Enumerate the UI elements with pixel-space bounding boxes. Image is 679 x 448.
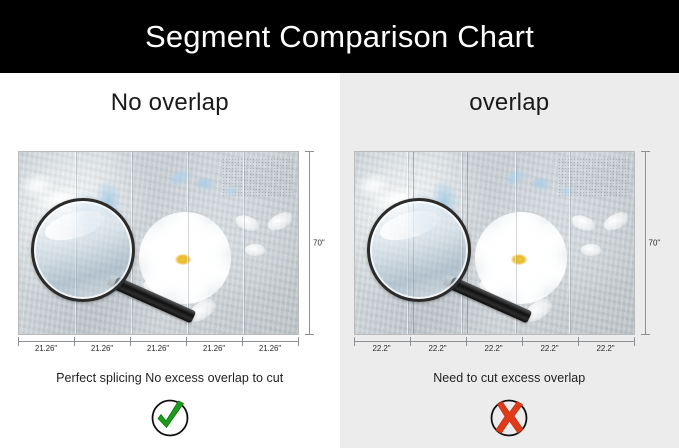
petal — [569, 211, 597, 234]
panel-heading-no-overlap: No overlap — [0, 89, 340, 117]
petal — [265, 210, 295, 234]
dimension-tick — [641, 334, 650, 335]
petal — [244, 243, 265, 258]
segment-width-label: 21.26" — [18, 344, 74, 353]
mural-artwork — [354, 151, 635, 335]
petal — [580, 243, 601, 258]
magnifier-ferrule — [107, 274, 128, 291]
width-dimension-line-overlap: 22.2" 22.2" 22.2" 22.2" 22.2" — [354, 341, 635, 363]
segment-width-label: 22.2" — [522, 344, 578, 353]
petal — [167, 166, 197, 189]
flower-stamen — [175, 254, 191, 265]
petal — [601, 210, 631, 234]
panel-no-overlap: No overlap — [0, 73, 340, 448]
comparison-panels: No overlap — [0, 73, 679, 448]
petal — [233, 211, 261, 234]
verdict-overlap — [340, 395, 679, 441]
segment-width-label: 22.2" — [578, 344, 634, 353]
segment-width-label: 22.2" — [410, 344, 466, 353]
blue-flower-cluster — [354, 156, 482, 272]
dimension-tick — [305, 334, 314, 335]
dimension-tick — [298, 337, 299, 346]
caption-no-overlap: Perfect splicing No excess overlap to cu… — [0, 371, 340, 385]
dimension-tick — [634, 337, 635, 346]
dimension-rule — [354, 341, 635, 342]
title-banner: Segment Comparison Chart — [0, 0, 679, 73]
page-title: Segment Comparison Chart — [145, 19, 534, 55]
segment-width-label: 21.26" — [186, 344, 242, 353]
segment-width-label: 21.26" — [242, 344, 298, 353]
panel-heading-overlap: overlap — [340, 89, 679, 117]
height-label: 70" — [313, 239, 325, 248]
magnifier-ferrule — [442, 274, 463, 291]
height-dimension-line-no-overlap: 70" — [305, 151, 331, 335]
dimension-rule — [309, 151, 310, 335]
dimension-rule — [645, 151, 646, 335]
segment-width-label: 21.26" — [130, 344, 186, 353]
check-mark-icon — [147, 395, 193, 441]
segment-width-label: 22.2" — [354, 344, 410, 353]
cross-mark-icon — [486, 395, 532, 441]
petal — [194, 176, 219, 195]
segment-width-label: 22.2" — [466, 344, 522, 353]
segment-comparison-infographic: Segment Comparison Chart No overlap — [0, 0, 679, 448]
verdict-no-overlap — [0, 395, 340, 441]
petal — [503, 166, 533, 189]
caption-overlap: Need to cut excess overlap — [340, 371, 679, 385]
mural-artwork — [18, 151, 299, 335]
panel-overlap: overlap — [340, 73, 679, 448]
mural-no-overlap — [18, 151, 299, 335]
height-label: 70" — [649, 239, 661, 248]
dimension-rule — [18, 341, 299, 342]
flower-stamen — [511, 254, 527, 265]
dimension-tick — [305, 151, 314, 152]
dimension-tick — [641, 151, 650, 152]
segment-width-label: 21.26" — [74, 344, 130, 353]
width-dimension-line-no-overlap: 21.26" 21.26" 21.26" 21.26" 21.26" — [18, 341, 299, 363]
petal — [529, 176, 554, 195]
height-dimension-line-overlap: 70" — [641, 151, 667, 335]
blue-flower-cluster — [18, 156, 146, 272]
mural-overlap — [354, 151, 635, 335]
